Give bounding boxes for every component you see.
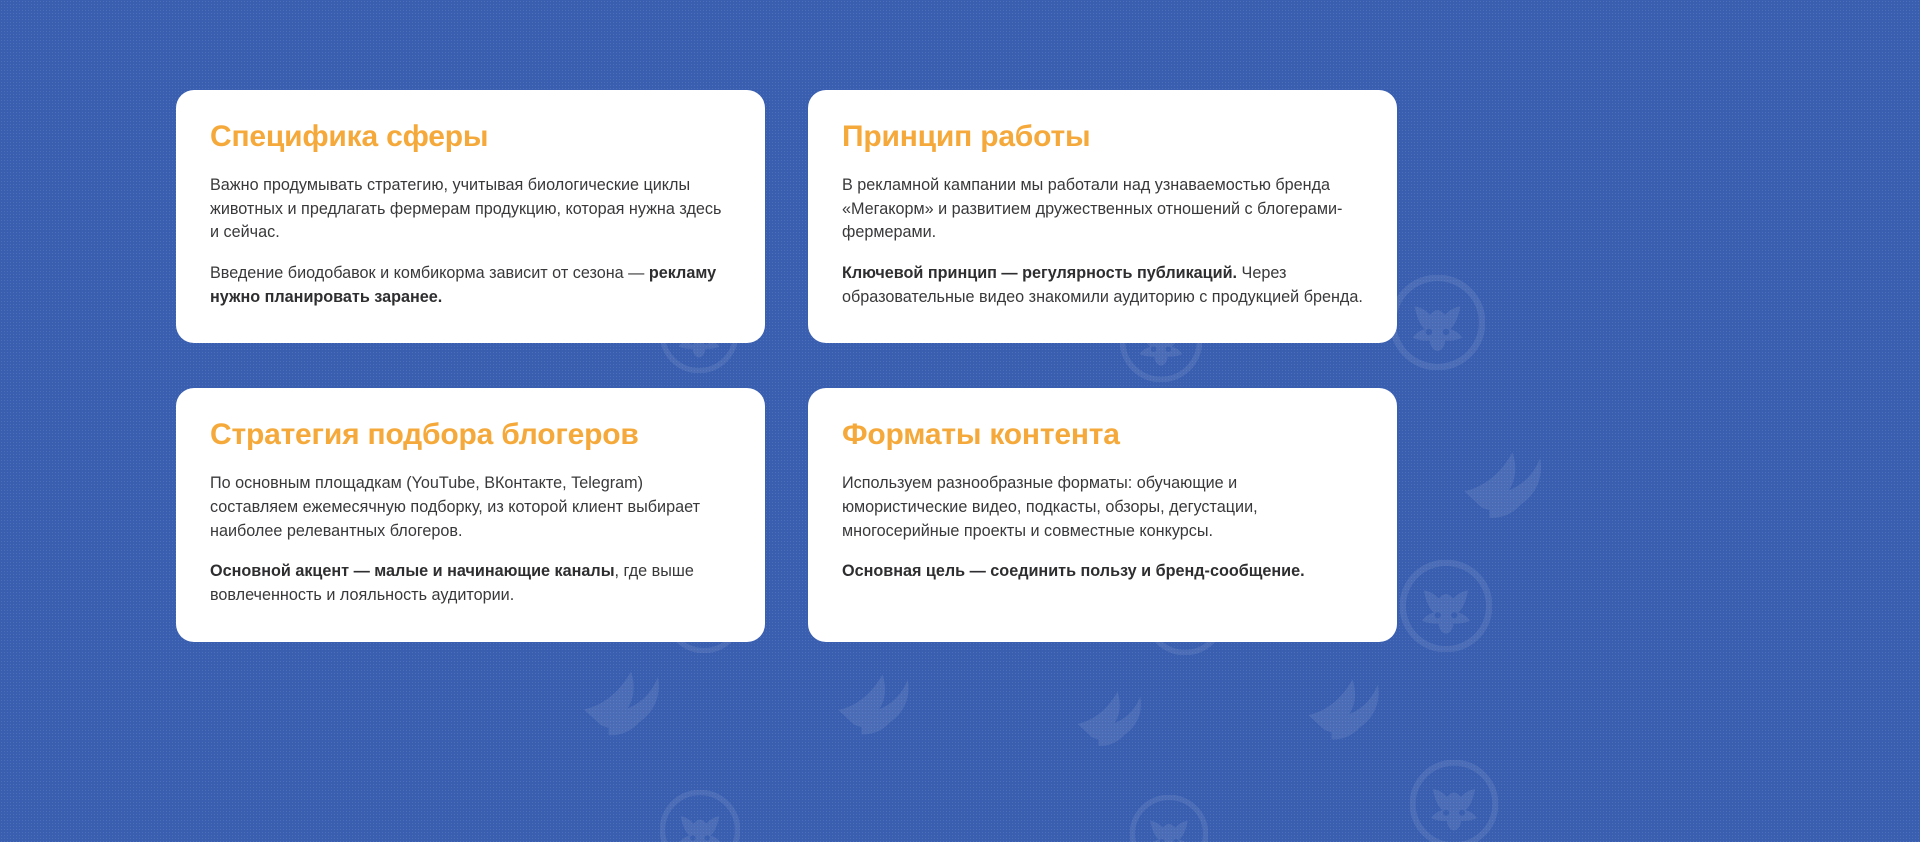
body-text: Важно продумывать стратегию, учитывая би…: [210, 176, 721, 241]
card-title: Принцип работы: [842, 120, 1363, 153]
card-body: Важно продумывать стратегию, учитывая би…: [210, 174, 731, 309]
bull-head-emblem: [660, 790, 740, 842]
card-content-formats: Форматы контента Используем разнообразны…: [808, 388, 1397, 641]
slide-canvas: Специфика сферы Важно продумывать страте…: [0, 0, 1920, 842]
wing-leaf-motif: [1300, 650, 1405, 755]
card-grid: Специфика сферы Важно продумывать страте…: [176, 90, 1744, 642]
card-paragraph: Основной акцент — малые и начинающие кан…: [210, 560, 731, 607]
card-body: По основным площадкам (YouTube, ВКонтакт…: [210, 472, 731, 607]
bull-head-emblem: [1130, 795, 1208, 842]
card-paragraph: По основным площадкам (YouTube, ВКонтакт…: [210, 472, 731, 543]
body-text: Используем разнообразные форматы: обучаю…: [842, 474, 1258, 539]
card-paragraph: Важно продумывать стратегию, учитывая би…: [210, 174, 731, 245]
card-paragraph: Введение биодобавок и комбикорма зависит…: [210, 262, 731, 309]
body-text: Введение биодобавок и комбикорма зависит…: [210, 264, 649, 282]
card-title: Форматы контента: [842, 418, 1363, 451]
card-title: Стратегия подбора блогеров: [210, 418, 731, 451]
card-title: Специфика сферы: [210, 120, 731, 153]
body-text: В рекламной кампании мы работали над узн…: [842, 176, 1342, 241]
wing-leaf-motif: [1070, 665, 1165, 760]
card-paragraph: Используем разнообразные форматы: обучаю…: [842, 472, 1363, 543]
wing-leaf-motif: [575, 640, 687, 752]
card-paragraph: Основная цель — соединить пользу и бренд…: [842, 560, 1363, 584]
emphasis-text: Ключевой принцип — регулярность публикац…: [842, 264, 1237, 282]
bull-head-emblem: [1410, 760, 1498, 842]
emphasis-text: Основная цель — соединить пользу и бренд…: [842, 562, 1305, 580]
card-body: Используем разнообразные форматы: обучаю…: [842, 472, 1363, 584]
wing-leaf-motif: [830, 645, 935, 750]
card-blogger-strategy: Стратегия подбора блогеров По основным п…: [176, 388, 765, 641]
card-paragraph: Ключевой принцип — регулярность публикац…: [842, 262, 1363, 309]
body-text: По основным площадкам (YouTube, ВКонтакт…: [210, 474, 700, 539]
card-principle: Принцип работы В рекламной кампании мы р…: [808, 90, 1397, 343]
card-body: В рекламной кампании мы работали над узн…: [842, 174, 1363, 309]
card-specifics: Специфика сферы Важно продумывать страте…: [176, 90, 765, 343]
card-paragraph: В рекламной кампании мы работали над узн…: [842, 174, 1363, 245]
emphasis-text: Основной акцент — малые и начинающие кан…: [210, 562, 615, 580]
